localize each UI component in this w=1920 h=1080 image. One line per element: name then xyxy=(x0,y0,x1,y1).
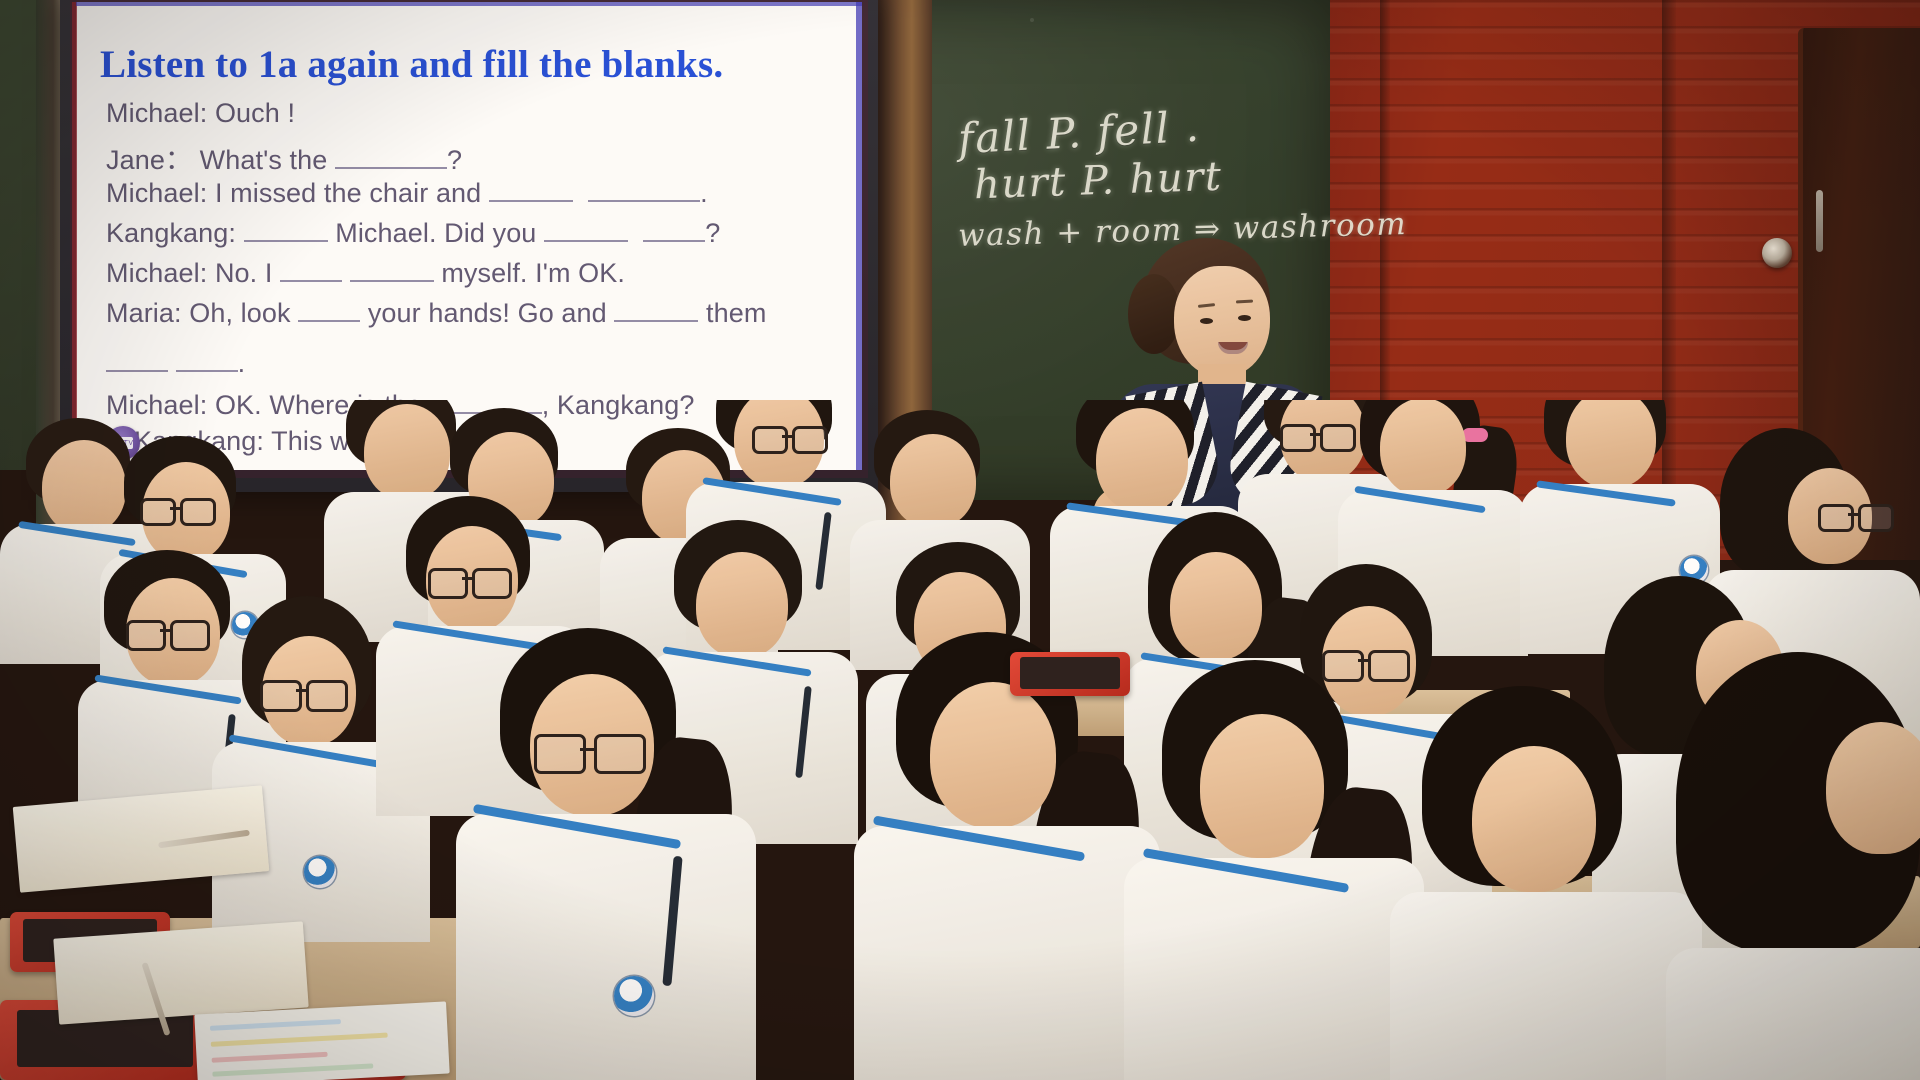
slide-line-6-speaker: Maria: xyxy=(106,298,182,328)
school-emblem-icon xyxy=(304,856,336,888)
slide-line-2: Jane： What's the ? xyxy=(106,138,462,177)
slide-blank xyxy=(614,320,698,322)
open-notebook[interactable] xyxy=(53,921,308,1024)
student-head xyxy=(1096,408,1188,512)
slide-blank xyxy=(335,167,447,169)
slide-line-4-speaker: Kangkang: xyxy=(106,218,236,248)
red-tablet-case[interactable] xyxy=(1010,652,1130,696)
slide-line-6-tail: your hands! Go and xyxy=(368,298,607,328)
slide-blank xyxy=(489,200,573,202)
chalkboard-note-2: hurt P. hurt xyxy=(973,154,1223,209)
slide-line-5-text: No. I xyxy=(215,258,273,288)
student-head xyxy=(1826,722,1920,854)
slide-line-4: Kangkang: Michael. Did you ? xyxy=(106,218,720,249)
chalkboard-note-1: fall P. fell . xyxy=(957,102,1201,164)
student-head xyxy=(1380,400,1466,496)
slide-line-5-speaker: Michael: xyxy=(106,258,207,288)
student-torso xyxy=(1666,948,1920,1080)
slide-line-7: . xyxy=(106,348,245,379)
slide-blank xyxy=(176,370,238,372)
teacher-face xyxy=(1174,266,1270,378)
slide-line-6-text: Oh, look xyxy=(189,298,290,328)
slide-blank xyxy=(244,240,328,242)
slide-title: Listen to 1a again and fill the blanks. xyxy=(100,42,723,87)
slide-blank xyxy=(298,320,360,322)
door-knob-icon[interactable] xyxy=(1762,238,1792,268)
slide-line-7-tail: . xyxy=(238,348,246,378)
slide-line-2-tail: ? xyxy=(447,145,462,175)
school-emblem-icon xyxy=(614,976,654,1016)
student-head xyxy=(1472,746,1596,892)
slide-blank xyxy=(280,280,342,282)
slide-line-2-speaker: Jane： xyxy=(106,145,192,175)
slide-line-1: Michael: Ouch ! xyxy=(106,98,295,129)
student-head xyxy=(42,440,126,534)
slide-blank xyxy=(643,240,705,242)
student-torso xyxy=(1124,858,1424,1080)
classroom-screenshot: fall P. fell . hurt P. hurt wash + room … xyxy=(0,0,1920,1080)
student-head xyxy=(930,682,1056,828)
slide-line-1-speaker: Michael: xyxy=(106,98,207,128)
slide-line-3-tail: . xyxy=(700,178,708,208)
slide-line-5: Michael: No. I myself. I'm OK. xyxy=(106,258,625,289)
slide-blank xyxy=(588,200,700,202)
slide-line-6: Maria: Oh, look your hands! Go and them xyxy=(106,298,766,329)
slide-blank xyxy=(350,280,434,282)
student-torso xyxy=(456,814,756,1080)
student-head xyxy=(890,434,976,528)
slide-line-2-text: What's the xyxy=(200,145,328,175)
slide-top-edge xyxy=(76,2,862,6)
slide-line-5-tail: myself. I'm OK. xyxy=(441,258,625,288)
student-head xyxy=(1170,552,1262,660)
slide-blank xyxy=(544,240,628,242)
student-head xyxy=(1566,400,1656,488)
slide-line-3-speaker: Michael: xyxy=(106,178,207,208)
worksheet[interactable] xyxy=(194,1001,449,1080)
slide-line-3: Michael: I missed the chair and . xyxy=(106,178,708,209)
slide-line-3-text: I missed the chair and xyxy=(215,178,481,208)
slide-line-4-tail: ? xyxy=(705,218,720,248)
slide-line-1-text: Ouch ! xyxy=(215,98,295,128)
door-handle-icon[interactable] xyxy=(1816,190,1823,252)
student-head xyxy=(364,404,450,500)
student-torso xyxy=(854,826,1160,1080)
teacher-hair-bun xyxy=(1128,274,1180,354)
slide-line-4-text: Michael. Did you xyxy=(335,218,536,248)
student-torso xyxy=(1390,892,1702,1080)
slide-blank xyxy=(106,370,168,372)
student-head xyxy=(696,552,788,658)
hair-tie xyxy=(1462,428,1488,442)
student-head xyxy=(1200,714,1324,858)
